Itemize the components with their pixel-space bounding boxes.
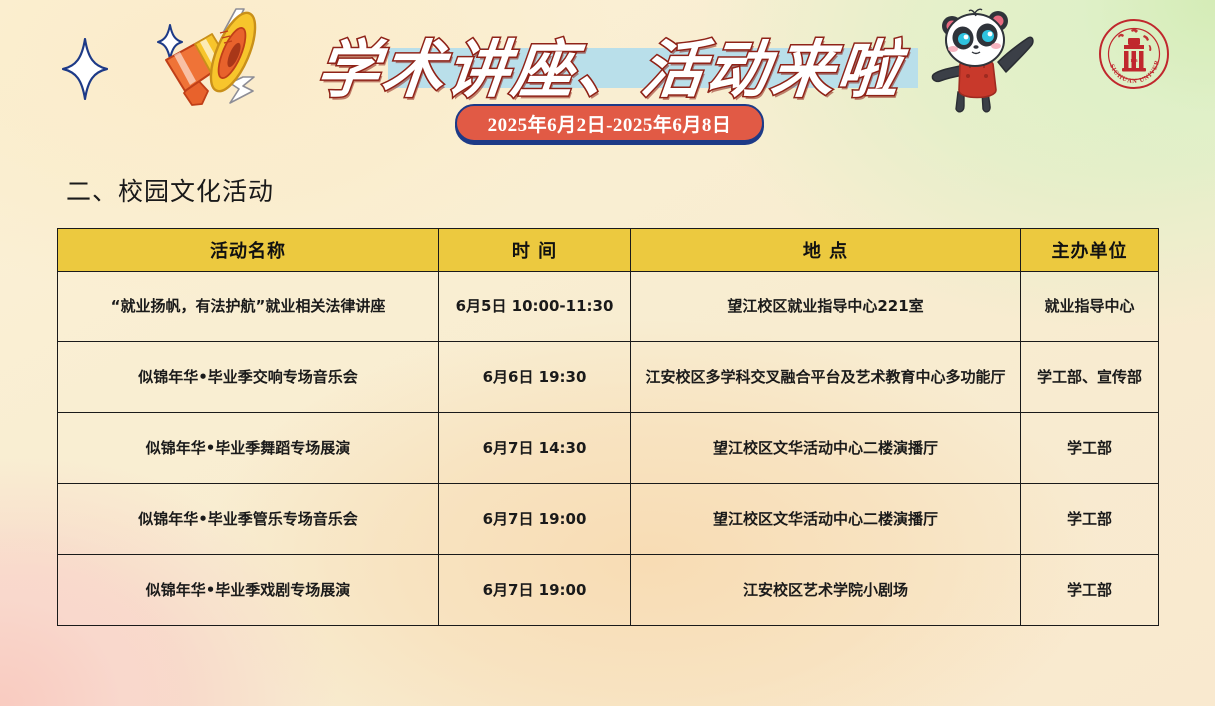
cell-activity-place: 江安校区多学科交叉融合平台及艺术教育中心多功能厅 [631, 342, 1021, 413]
sparkle-icon-large [62, 38, 108, 100]
column-header-time: 时 间 [439, 229, 631, 272]
cell-activity-host: 学工部 [1021, 484, 1159, 555]
sichuan-university-logo: 1896 SICHUAN UNIVERSITY [1098, 18, 1170, 90]
cell-activity-host: 学工部 [1021, 555, 1159, 626]
table-row: 似锦年华•毕业季管乐专场音乐会 6月7日 19:00 望江校区文华活动中心二楼演… [58, 484, 1159, 555]
activity-table: 活动名称 时 间 地 点 主办单位 “就业扬帆，有法护航”就业相关法律讲座 6月… [57, 228, 1159, 626]
table-row: 似锦年华•毕业季交响专场音乐会 6月6日 19:30 江安校区多学科交叉融合平台… [58, 342, 1159, 413]
cell-activity-time: 6月7日 19:00 [439, 555, 631, 626]
cell-activity-name: 似锦年华•毕业季交响专场音乐会 [58, 342, 439, 413]
column-header-name: 活动名称 [58, 229, 439, 272]
table-row: “就业扬帆，有法护航”就业相关法律讲座 6月5日 10:00-11:30 望江校… [58, 272, 1159, 342]
poster-page: 学术讲座、活动来啦 2025年6月2日-2025年6月8日 [0, 0, 1215, 706]
section-heading: 二、校园文化活动 [66, 172, 274, 208]
cell-activity-place: 望江校区文华活动中心二楼演播厅 [631, 484, 1021, 555]
cell-activity-host: 学工部 [1021, 413, 1159, 484]
megaphone-icon [140, 5, 270, 120]
cell-activity-place: 望江校区文华活动中心二楼演播厅 [631, 413, 1021, 484]
cell-activity-place: 望江校区就业指导中心221室 [631, 272, 1021, 342]
logo-year: 1896 [1130, 59, 1137, 63]
cell-activity-name: 似锦年华•毕业季戏剧专场展演 [58, 555, 439, 626]
panda-mascot-icon [930, 4, 1035, 119]
cell-activity-name: “就业扬帆，有法护航”就业相关法律讲座 [58, 272, 439, 342]
date-range-badge: 2025年6月2日-2025年6月8日 [455, 104, 764, 142]
column-header-host: 主办单位 [1021, 229, 1159, 272]
cell-activity-time: 6月7日 14:30 [439, 413, 631, 484]
cell-activity-name: 似锦年华•毕业季舞蹈专场展演 [58, 413, 439, 484]
cell-activity-host: 就业指导中心 [1021, 272, 1159, 342]
table-row: 似锦年华•毕业季舞蹈专场展演 6月7日 14:30 望江校区文华活动中心二楼演播… [58, 413, 1159, 484]
page-title: 学术讲座、活动来啦 [295, 14, 926, 114]
column-header-place: 地 点 [631, 229, 1021, 272]
cell-activity-place: 江安校区艺术学院小剧场 [631, 555, 1021, 626]
cell-activity-time: 6月7日 19:00 [439, 484, 631, 555]
cell-activity-time: 6月5日 10:00-11:30 [439, 272, 631, 342]
cell-activity-time: 6月6日 19:30 [439, 342, 631, 413]
table-header-row: 活动名称 时 间 地 点 主办单位 [58, 229, 1159, 272]
header-banner: 学术讲座、活动来啦 2025年6月2日-2025年6月8日 [0, 0, 1215, 155]
cell-activity-host: 学工部、宣传部 [1021, 342, 1159, 413]
cell-activity-name: 似锦年华•毕业季管乐专场音乐会 [58, 484, 439, 555]
table-row: 似锦年华•毕业季戏剧专场展演 6月7日 19:00 江安校区艺术学院小剧场 学工… [58, 555, 1159, 626]
